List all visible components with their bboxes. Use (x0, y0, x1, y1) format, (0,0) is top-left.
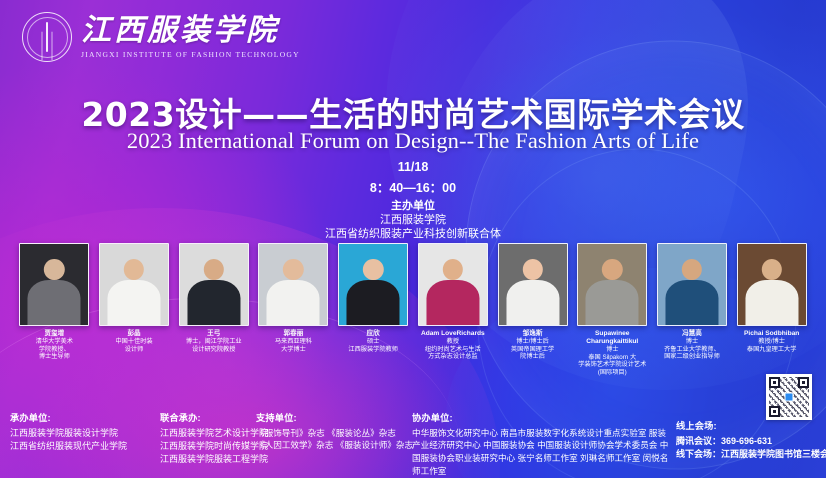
speaker-caption: 邹逸斯博士/博士后英国帝国理工学院博士后 (511, 330, 554, 361)
speaker-caption: 应欣硕士江西服装学院教师 (348, 330, 398, 353)
supporters-line-2: 《人因工效学》杂志 《服装设计师》杂志 (256, 439, 421, 452)
speaker-affiliation: 泰国九皇理工大学 (744, 346, 799, 354)
speaker-photo-adam-loverichards (418, 243, 488, 326)
venue-block: 线上会场: 腾讯会议：369-696-631 线下会场：江西服装学院图书馆三楼会… (676, 418, 826, 462)
speaker-affiliation-extra: 博士生导师 (36, 353, 73, 361)
supporters-line-1: 《服饰导刊》杂志 《服装论丛》杂志 (256, 427, 421, 440)
speaker-name: Pichai Sodbhiban (744, 330, 799, 338)
speaker-photo-wang-gong (179, 243, 249, 326)
speaker-card: Pichai Sodbhiban教授/博士泰国九皇理工大学 (735, 243, 808, 376)
co-organizer-line-3: 江西服装学院服装工程学院 (160, 453, 308, 466)
speaker-caption: 彭晶中国十佳时装设计师 (115, 330, 152, 353)
speaker-caption: 郭春丽马来西亚理科大学博士 (275, 330, 312, 353)
speaker-card: Adam LoveRichards教授纽约时尚艺术与生活方式杂志设计总监 (417, 243, 490, 376)
speaker-caption: Supawinee Charungkaittikul博士泰国 Silpakorn… (576, 330, 649, 376)
speaker-role: 博士/博士后 (511, 338, 554, 346)
speaker-photo-ying-xin (338, 243, 408, 326)
speaker-card: 应欣硕士江西服装学院教师 (337, 243, 410, 376)
partners-heading: 协办单位: (412, 410, 670, 424)
speaker-name: Supawinee Charungkaittikul (576, 330, 649, 346)
speaker-affiliation: 大学博士 (275, 346, 312, 354)
speaker-role: 博士 (576, 346, 649, 354)
qr-code-icon[interactable] (766, 374, 812, 420)
speaker-name: 郭春丽 (275, 330, 312, 338)
speaker-role: 清华大学美术 (36, 338, 73, 346)
speaker-role: 硕士 (348, 338, 398, 346)
speaker-name: 贾玺增 (36, 330, 73, 338)
speaker-card: 王弓博士，闽江学院工业设计研究院教授 (177, 243, 250, 376)
speaker-affiliation-extra: 方式杂志设计总监 (421, 353, 485, 361)
speaker-name: Adam LoveRichards (421, 330, 485, 338)
organizer-block: 承办单位: 江西服装学院服装设计学院 江西省纺织服装现代产业学院 (10, 410, 160, 453)
conference-date: 11/18 (0, 160, 826, 174)
university-seal-icon (22, 12, 72, 62)
speaker-affiliation-extra: 国家二级创业指导师 (664, 353, 720, 361)
speaker-affiliation-extra: 学装饰艺术学院设计艺术(国际项目) (576, 361, 649, 376)
supporters-block: 支持单位: 《服饰导刊》杂志 《服装论丛》杂志 《人因工效学》杂志 《服装设计师… (256, 410, 421, 452)
venue-heading: 线上会场: (676, 418, 826, 432)
speaker-affiliation: 设计研究院教授 (186, 346, 242, 354)
speaker-photo-supawinee (577, 243, 647, 326)
partners-body: 中华服饰文化研究中心 南昌市服装数字化系统设计重点实验室 服装产业经济研究中心 … (412, 427, 670, 478)
speaker-role: 博士 (664, 338, 720, 346)
speaker-name: 王弓 (186, 330, 242, 338)
speaker-photo-pichai-sodbhiban (737, 243, 807, 326)
supporters-heading: 支持单位: (256, 410, 421, 424)
speaker-card: 邹逸斯博士/博士后英国帝国理工学院博士后 (496, 243, 569, 376)
speaker-card: 郭春丽马来西亚理科大学博士 (257, 243, 330, 376)
conference-title-en: 2023 International Forum on Design--The … (0, 128, 826, 154)
institution-logo: 江西服装学院 JIANGXI INSTITUTE OF FASHION TECH… (22, 12, 300, 62)
speaker-caption: 冯慧高博士齐鲁工业大学教师、国家二级创业指导师 (664, 330, 720, 361)
institution-name-cn: 江西服装学院 (81, 15, 300, 47)
speaker-card: Supawinee Charungkaittikul博士泰国 Silpakorn… (576, 243, 649, 376)
conference-time: 8：40—16：00 (0, 177, 826, 196)
speaker-photo-guo-chunli (258, 243, 328, 326)
footer-info: 承办单位: 江西服装学院服装设计学院 江西省纺织服装现代产业学院 联合承办: 江… (0, 396, 826, 478)
speaker-role: 博士，闽江学院工业 (186, 338, 242, 346)
speaker-caption: 贾玺增清华大学美术学院教授、博士生导师 (36, 330, 73, 361)
speaker-affiliation: 设计师 (115, 346, 152, 354)
speaker-caption: Adam LoveRichards教授纽约时尚艺术与生活方式杂志设计总监 (421, 330, 485, 361)
speaker-photo-peng-jing (99, 243, 169, 326)
speaker-role: 中国十佳时装 (115, 338, 152, 346)
speaker-card: 冯慧高博士齐鲁工业大学教师、国家二级创业指导师 (656, 243, 729, 376)
speaker-name: 彭晶 (115, 330, 152, 338)
speaker-affiliation-extra: 院博士后 (511, 353, 554, 361)
speaker-caption: 王弓博士，闽江学院工业设计研究院教授 (186, 330, 242, 353)
speaker-caption: Pichai Sodbhiban教授/博士泰国九皇理工大学 (744, 330, 799, 353)
speaker-card: 彭晶中国十佳时装设计师 (98, 243, 171, 376)
host-organization-2: 江西省纺织服装产业科技创新联合体 (0, 225, 826, 241)
organizer-line-2: 江西省纺织服装现代产业学院 (10, 440, 160, 453)
speaker-role: 教授 (421, 338, 485, 346)
speaker-list: 贾玺增清华大学美术学院教授、博士生导师彭晶中国十佳时装设计师王弓博士，闽江学院工… (18, 243, 808, 376)
partners-block: 协办单位: 中华服饰文化研究中心 南昌市服装数字化系统设计重点实验室 服装产业经… (412, 410, 670, 478)
speaker-role: 教授/博士 (744, 338, 799, 346)
speaker-photo-zou-yisi (498, 243, 568, 326)
organizer-line-1: 江西服装学院服装设计学院 (10, 427, 160, 440)
speaker-photo-feng-huigao (657, 243, 727, 326)
speaker-photo-jia-xizeng (19, 243, 89, 326)
speaker-name: 应欣 (348, 330, 398, 338)
conference-poster: 江西服装学院 JIANGXI INSTITUTE OF FASHION TECH… (0, 0, 826, 478)
speaker-card: 贾玺增清华大学美术学院教授、博士生导师 (18, 243, 91, 376)
speaker-affiliation: 江西服装学院教师 (348, 346, 398, 354)
venue-offline: 线下会场：江西服装学院图书馆三楼会议厅 (676, 448, 826, 462)
organizer-heading: 承办单位: (10, 410, 160, 424)
institution-name-en: JIANGXI INSTITUTE OF FASHION TECHNOLOGY (81, 50, 300, 59)
venue-online: 腾讯会议：369-696-631 (676, 435, 826, 449)
speaker-name: 冯慧高 (664, 330, 720, 338)
speaker-role: 马来西亚理科 (275, 338, 312, 346)
speaker-name: 邹逸斯 (511, 330, 554, 338)
